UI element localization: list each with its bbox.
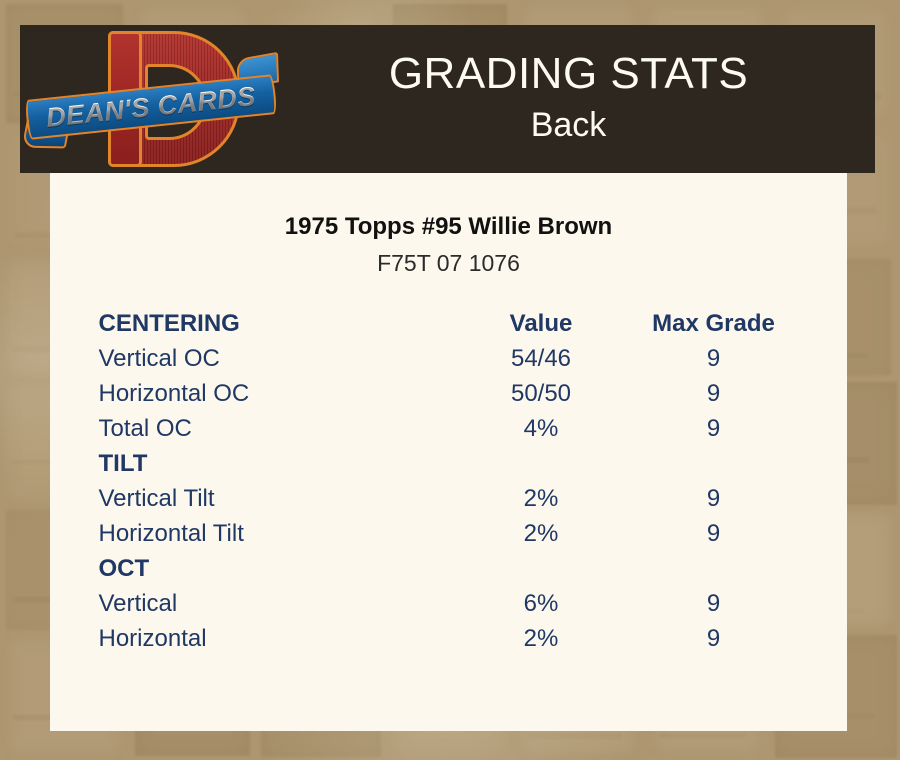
- column-header-max-grade: Max Grade: [629, 306, 799, 341]
- card-serial-number: F75T 07 1076: [50, 250, 847, 277]
- header-bar: DEAN'S CARDS GRADING STATS Back: [20, 25, 875, 173]
- section-spacer-max: [629, 446, 799, 481]
- stat-value: 2%: [454, 481, 629, 516]
- stat-max-grade: 9: [629, 516, 799, 551]
- header-title-group: GRADING STATS Back: [282, 52, 875, 147]
- card-title: 1975 Topps #95 Willie Brown: [50, 213, 847, 241]
- stat-label: Horizontal: [99, 621, 454, 656]
- page-subtitle: Back: [282, 104, 855, 147]
- grading-stats-table: CENTERINGValueMax GradeVertical OC54/469…: [99, 306, 799, 656]
- stat-max-grade: 9: [629, 341, 799, 376]
- table-row: Vertical6%9: [99, 586, 799, 621]
- section-spacer-value: [454, 446, 629, 481]
- table-row: Vertical Tilt2%9: [99, 481, 799, 516]
- page-title: GRADING STATS: [282, 52, 855, 96]
- stat-label: Vertical Tilt: [99, 481, 454, 516]
- deans-cards-logo-icon[interactable]: DEAN'S CARDS: [20, 25, 282, 173]
- section-heading-row: TILT: [99, 446, 799, 481]
- table-row: Vertical OC54/469: [99, 341, 799, 376]
- stat-value: 50/50: [454, 376, 629, 411]
- stat-value: 54/46: [454, 341, 629, 376]
- table-row: Horizontal OC50/509: [99, 376, 799, 411]
- grading-stats-body: CENTERINGValueMax GradeVertical OC54/469…: [99, 306, 799, 656]
- stat-value: 6%: [454, 586, 629, 621]
- stat-label: Horizontal OC: [99, 376, 454, 411]
- stat-value: 2%: [454, 621, 629, 656]
- section-spacer-value: [454, 551, 629, 586]
- stat-max-grade: 9: [629, 621, 799, 656]
- column-header-value: Value: [454, 306, 629, 341]
- table-row: Horizontal Tilt2%9: [99, 516, 799, 551]
- stat-max-grade: 9: [629, 376, 799, 411]
- table-row: Horizontal2%9: [99, 621, 799, 656]
- stat-max-grade: 9: [629, 411, 799, 446]
- stat-value: 2%: [454, 516, 629, 551]
- section-heading-oct: OCT: [99, 551, 454, 586]
- table-row: Total OC4%9: [99, 411, 799, 446]
- stat-max-grade: 9: [629, 481, 799, 516]
- stat-max-grade: 9: [629, 586, 799, 621]
- content-panel: 1975 Topps #95 Willie Brown F75T 07 1076…: [50, 173, 847, 731]
- stat-value: 4%: [454, 411, 629, 446]
- section-spacer-max: [629, 551, 799, 586]
- stat-label: Vertical: [99, 586, 454, 621]
- stat-label: Vertical OC: [99, 341, 454, 376]
- section-heading-row: OCT: [99, 551, 799, 586]
- stat-label: Total OC: [99, 411, 454, 446]
- stat-label: Horizontal Tilt: [99, 516, 454, 551]
- table-header-row: CENTERINGValueMax Grade: [99, 306, 799, 341]
- section-heading-centering: CENTERING: [99, 306, 454, 341]
- section-heading-tilt: TILT: [99, 446, 454, 481]
- watermark-detail: [659, 733, 745, 738]
